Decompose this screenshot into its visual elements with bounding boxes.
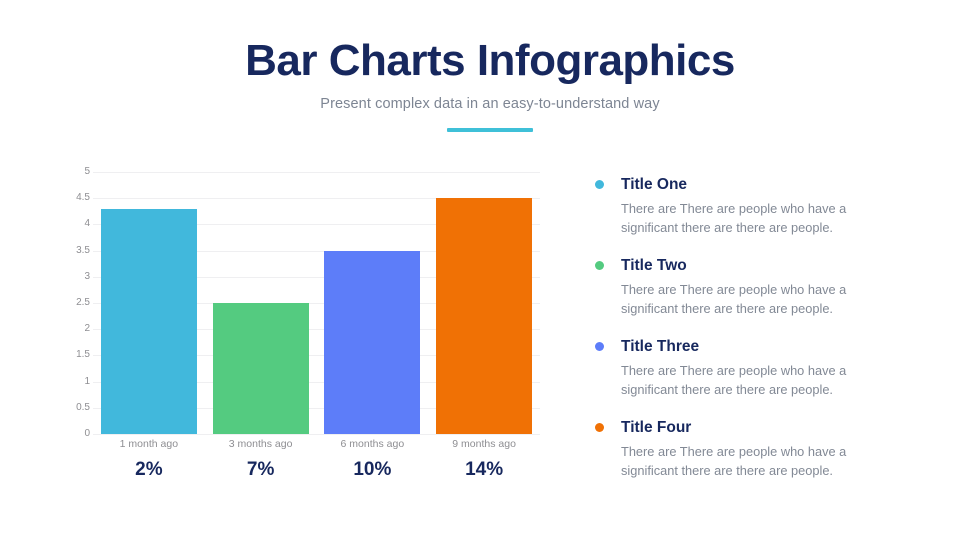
- x-axis-tick-label: 6 months ago: [317, 438, 429, 451]
- bullet-dot-icon: [595, 261, 604, 270]
- legend-item[interactable]: Title ThreeThere are There are people wh…: [590, 337, 920, 399]
- y-axis-tick-label: 0.5: [76, 403, 90, 413]
- bars-layer: [93, 172, 540, 434]
- legend-item-title: Title One: [621, 175, 687, 194]
- x-axis-tick-label: 1 month ago: [93, 438, 205, 451]
- header: Bar Charts Infographics Present complex …: [0, 36, 980, 132]
- legend-item-body: There are There are people who have a si…: [621, 362, 906, 399]
- bar-value-label: 10%: [317, 460, 429, 481]
- x-axis: 1 month ago2%3 months ago7%6 months ago1…: [93, 438, 540, 508]
- x-axis-tick-label: 9 months ago: [428, 438, 540, 451]
- chart-bar[interactable]: [324, 251, 420, 434]
- legend-item-body: There are There are people who have a si…: [621, 443, 906, 480]
- x-axis-group: 9 months ago14%: [428, 438, 540, 480]
- x-axis-group: 3 months ago7%: [205, 438, 317, 480]
- bullet-dot-icon: [595, 342, 604, 351]
- legend-item-header: Title Three: [590, 337, 920, 357]
- legend-item-title: Title Four: [621, 418, 691, 437]
- y-axis-tick-label: 3.5: [76, 246, 90, 256]
- y-axis-tick-label: 2.5: [76, 298, 90, 308]
- legend-item-header: Title Four: [590, 418, 920, 438]
- legend-item[interactable]: Title TwoThere are There are people who …: [590, 256, 920, 318]
- legend-list: Title OneThere are There are people who …: [590, 175, 920, 480]
- page-title: Bar Charts Infographics: [0, 36, 980, 87]
- y-axis-tick-label: 0: [84, 429, 90, 439]
- bar-value-label: 7%: [205, 460, 317, 481]
- page-subtitle: Present complex data in an easy-to-under…: [0, 96, 980, 113]
- chart-plot-area: [93, 172, 540, 434]
- bullet-dot-icon: [595, 423, 604, 432]
- legend-item[interactable]: Title OneThere are There are people who …: [590, 175, 920, 237]
- y-axis-tick-label: 1: [84, 377, 90, 387]
- y-axis-tick-label: 2: [84, 324, 90, 334]
- y-axis-tick-label: 1.5: [76, 350, 90, 360]
- y-axis-tick-label: 4.5: [76, 193, 90, 203]
- legend-item-header: Title Two: [590, 256, 920, 276]
- gridline: [93, 434, 540, 435]
- legend-item[interactable]: Title FourThere are There are people who…: [590, 418, 920, 480]
- legend-item-header: Title One: [590, 175, 920, 195]
- legend-item-body: There are There are people who have a si…: [621, 200, 906, 237]
- chart-bar[interactable]: [101, 209, 197, 434]
- bar-value-label: 14%: [428, 460, 540, 481]
- bullet-dot-icon: [595, 180, 604, 189]
- chart-bar[interactable]: [213, 303, 309, 434]
- x-axis-group: 1 month ago2%: [93, 438, 205, 480]
- legend-item-title: Title Three: [621, 337, 699, 356]
- y-axis-tick-label: 4: [84, 219, 90, 229]
- x-axis-group: 6 months ago10%: [317, 438, 429, 480]
- bar-chart: 00.511.522.533.544.55 1 month ago2%3 mon…: [60, 172, 540, 512]
- chart-bar[interactable]: [436, 198, 532, 434]
- legend-item-title: Title Two: [621, 256, 687, 275]
- bar-value-label: 2%: [93, 460, 205, 481]
- legend-item-body: There are There are people who have a si…: [621, 281, 906, 318]
- y-axis-tick-label: 3: [84, 272, 90, 282]
- y-axis-tick-label: 5: [84, 167, 90, 177]
- title-divider: [447, 128, 533, 132]
- y-axis: 00.511.522.533.544.55: [60, 172, 90, 434]
- x-axis-tick-label: 3 months ago: [205, 438, 317, 451]
